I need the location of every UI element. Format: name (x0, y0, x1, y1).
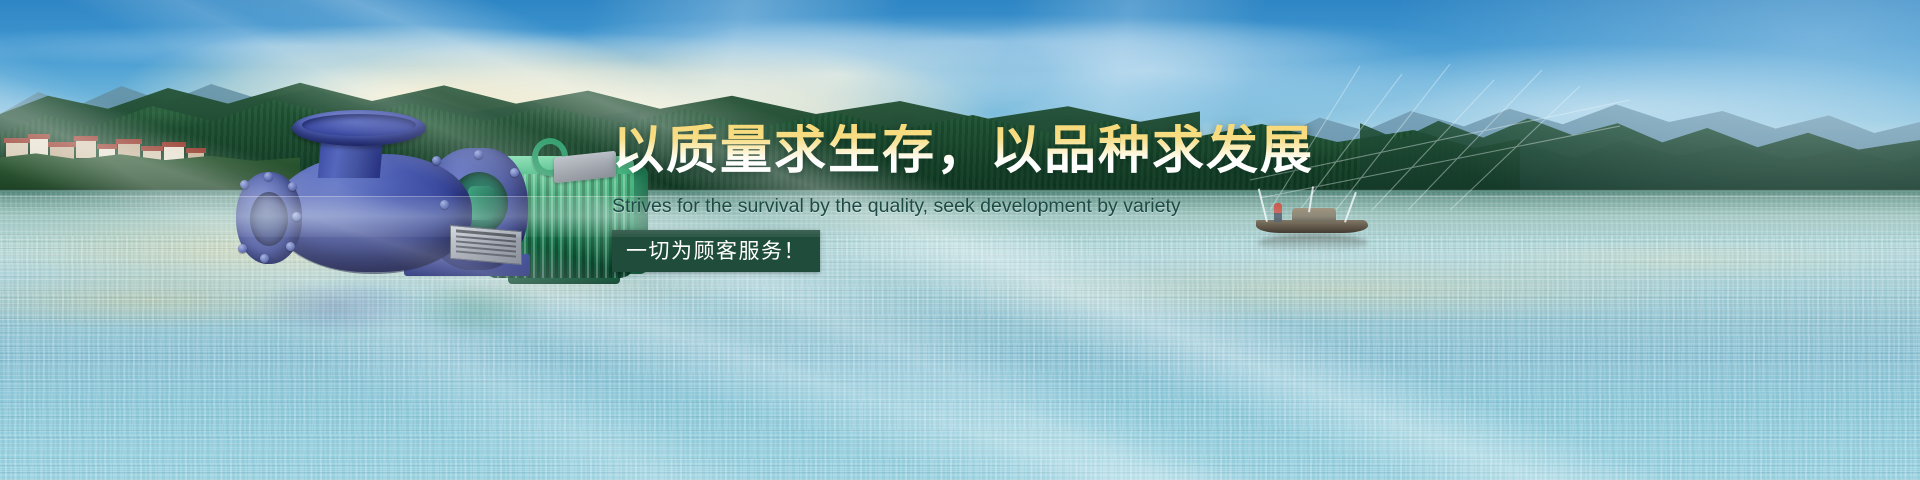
banner-subtitle: Strives for the survival by the quality,… (612, 195, 1332, 218)
pump-nameplate (450, 225, 522, 265)
casing-bolt (432, 156, 441, 165)
casing-bolt (510, 168, 519, 177)
casing-bolt (440, 200, 449, 209)
flange-bolt (286, 242, 295, 251)
pump-water-reflection (250, 286, 570, 372)
suction-bore (250, 192, 288, 246)
banner-copy: 以质量求生存，以品种求发展 Strives for the survival b… (612, 124, 1332, 272)
discharge-flange-bore (302, 114, 416, 136)
flange-bolt (238, 244, 247, 253)
flange-bolt (240, 180, 249, 189)
flange-bolt (264, 172, 273, 181)
flange-bolt (288, 182, 297, 191)
casing-bolt (474, 150, 483, 159)
net-pole (1344, 192, 1357, 223)
banner-headline: 以质量求生存，以品种求发展 (612, 124, 1332, 179)
flange-bolt (260, 254, 269, 263)
flange-bolt (292, 212, 301, 221)
hero-banner: 以质量求生存，以品种求发展 Strives for the survival b… (0, 0, 1920, 480)
centrifugal-pump-product (236, 104, 576, 289)
service-badge: 一切为顾客服务！ (612, 230, 820, 272)
